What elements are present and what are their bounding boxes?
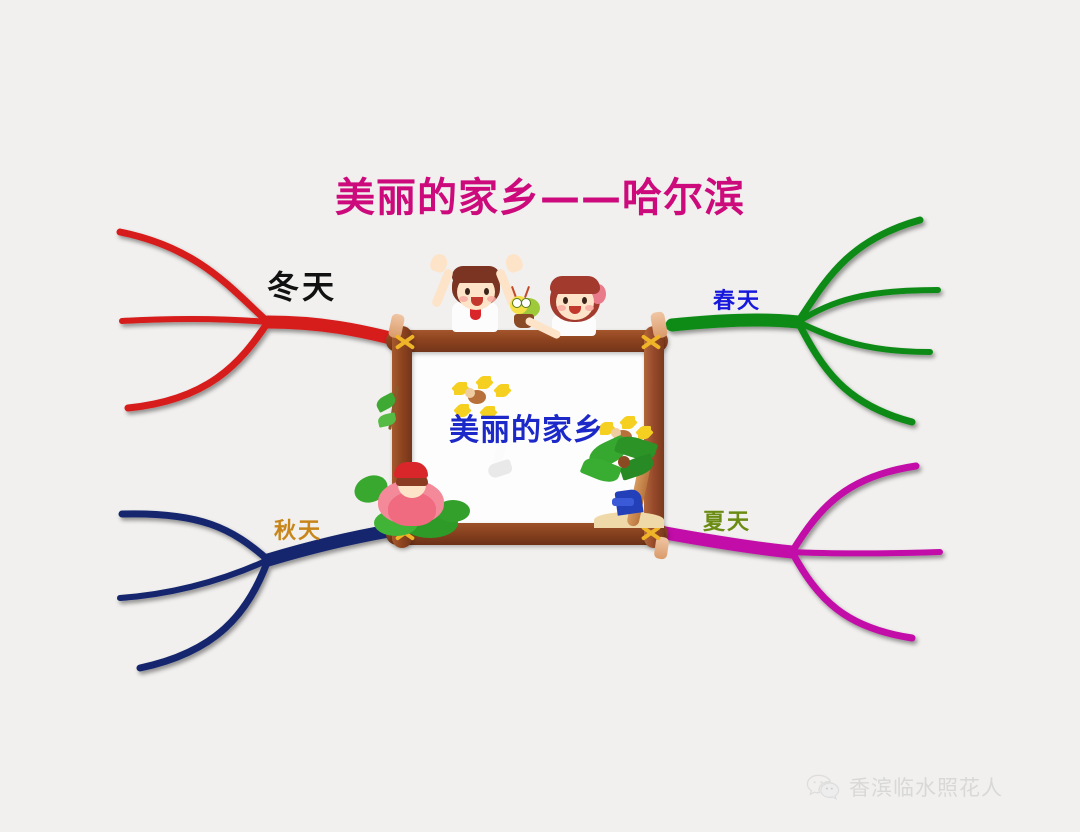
yellow-flower-icon bbox=[478, 376, 491, 389]
branch-summer-sub-1 bbox=[792, 466, 916, 552]
branch-spring-sub-1 bbox=[798, 220, 920, 322]
branch-label-summer[interactable]: 夏天 bbox=[703, 504, 751, 536]
boy-fringe bbox=[452, 266, 500, 283]
boy-cheek bbox=[487, 296, 496, 302]
branch-label-autumn[interactable]: 秋天 bbox=[274, 513, 322, 545]
mindmap-canvas: 美丽的家乡——哈尔滨 冬天 春天 秋天 夏天 bbox=[0, 0, 1080, 832]
caterpillar-eye bbox=[521, 298, 531, 308]
caterpillar-antenna bbox=[524, 286, 530, 298]
branch-spring-sub-3 bbox=[798, 322, 930, 352]
branch-label-winter[interactable]: 冬天 bbox=[267, 262, 337, 308]
branch-winter-trunk bbox=[268, 322, 402, 341]
branch-label-spring[interactable]: 春天 bbox=[713, 283, 761, 315]
beach-chair-seat bbox=[612, 498, 634, 506]
branch-spring[interactable] bbox=[672, 220, 938, 422]
branch-summer-sub-3 bbox=[792, 552, 912, 638]
coconut-icon bbox=[618, 456, 630, 468]
branch-winter-sub-2 bbox=[122, 319, 268, 322]
branch-spring-sub-4 bbox=[798, 322, 912, 422]
lotus-fairy-icon bbox=[354, 460, 484, 546]
center-node-label: 美丽的家乡 bbox=[449, 405, 604, 449]
girl-eye bbox=[563, 297, 568, 304]
girl-cheek bbox=[585, 305, 594, 311]
boy-eye bbox=[484, 288, 489, 295]
branch-summer-sub-2 bbox=[792, 552, 940, 554]
rope-knot-icon-topleft bbox=[394, 331, 416, 353]
bee-icon bbox=[468, 390, 486, 404]
watermark: 香滨临水照花人 bbox=[806, 772, 1003, 802]
fairy-red-hat bbox=[394, 462, 428, 478]
boy-cheek bbox=[459, 296, 468, 302]
wechat-icon bbox=[806, 774, 840, 800]
boy-eye bbox=[465, 288, 470, 295]
children-illustration bbox=[432, 252, 622, 344]
branch-autumn-sub-2 bbox=[120, 560, 268, 598]
yellow-flower-icon bbox=[496, 384, 509, 397]
branch-summer[interactable] bbox=[660, 466, 940, 638]
yellow-flower-icon bbox=[622, 416, 635, 429]
girl-eye bbox=[582, 297, 587, 304]
page-title: 美丽的家乡——哈尔滨 bbox=[335, 165, 745, 223]
boy-hand bbox=[504, 252, 525, 274]
girl-fringe bbox=[550, 276, 600, 294]
sprig-leaf bbox=[377, 412, 397, 427]
watermark-text: 香滨临水照花人 bbox=[849, 772, 1003, 802]
branch-winter-sub-3 bbox=[128, 322, 268, 408]
palm-tree-beach-icon bbox=[582, 438, 672, 534]
girl-cheek bbox=[557, 305, 566, 311]
branch-winter-sub-1 bbox=[120, 232, 268, 322]
branch-winter[interactable] bbox=[120, 232, 402, 408]
branch-autumn-sub-3 bbox=[140, 560, 268, 668]
branch-autumn-sub-1 bbox=[122, 514, 268, 560]
branch-spring-trunk bbox=[672, 320, 798, 325]
rope-knot-icon-topright bbox=[640, 331, 662, 353]
boy-arm bbox=[431, 268, 454, 308]
green-sprig-icon bbox=[376, 386, 406, 436]
